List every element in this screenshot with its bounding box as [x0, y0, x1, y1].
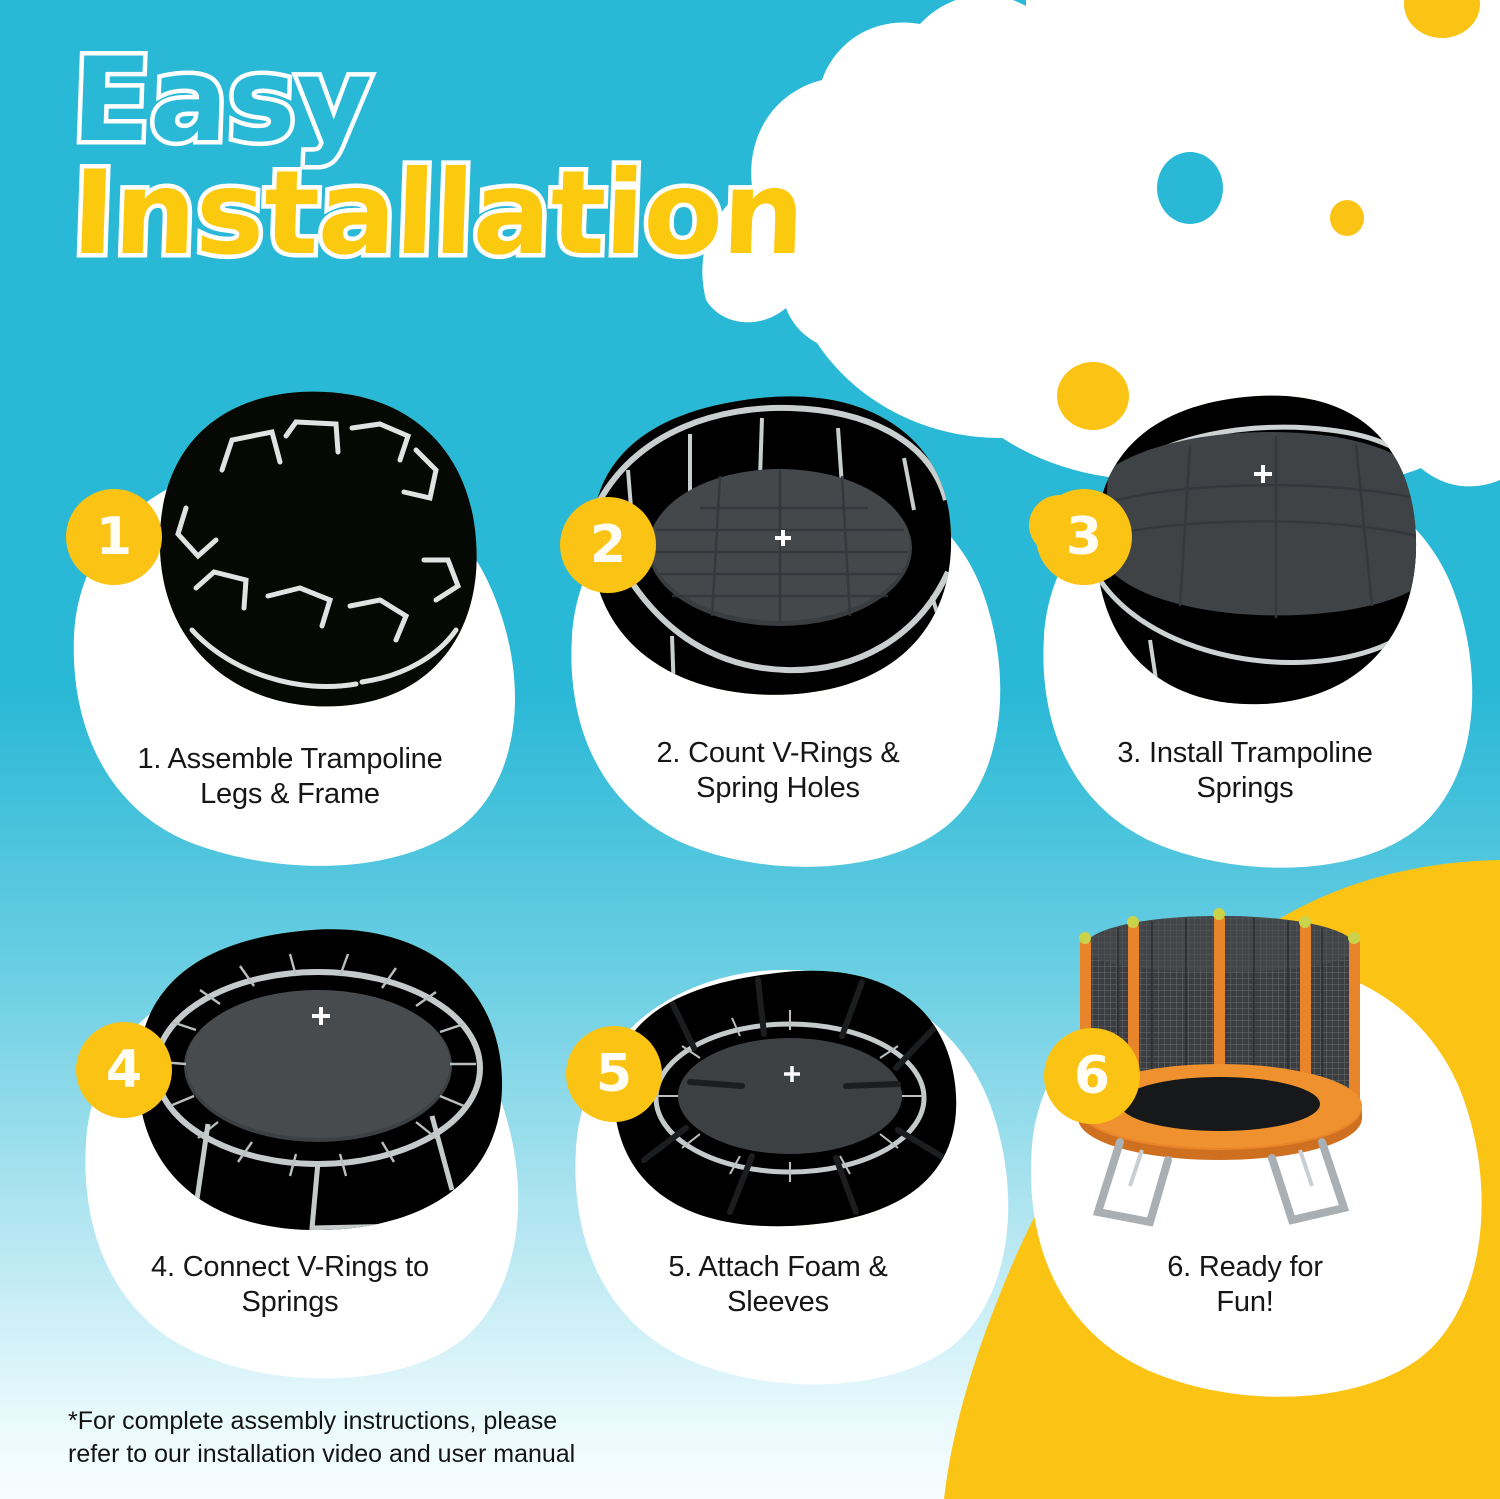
step-6-caption-line1: 6. Ready for — [1030, 1250, 1460, 1285]
footnote-line1: *For complete assembly instructions, ple… — [68, 1405, 708, 1438]
step-2-badge: 2 — [560, 497, 656, 593]
step-4-caption: 4. Connect V-Rings to Springs — [60, 1250, 520, 1321]
step-3-caption-line1: 3. Install Trampoline — [1030, 736, 1460, 771]
step-6-number: 6 — [1074, 1046, 1110, 1106]
step-1-caption: 1. Assemble Trampoline Legs & Frame — [60, 742, 520, 813]
step-1-caption-line1: 1. Assemble Trampoline — [60, 742, 520, 777]
title-line-easy: Easy — [70, 48, 806, 155]
step-3-caption-line2: Springs — [1030, 771, 1460, 806]
step-3-caption: 3. Install Trampoline Springs — [1030, 736, 1460, 807]
step-2-caption: 2. Count V-Rings & Spring Holes — [556, 736, 1000, 807]
step-5-badge: 5 — [566, 1026, 662, 1122]
step-1-caption-line2: Legs & Frame — [60, 777, 520, 812]
footnote: *For complete assembly instructions, ple… — [68, 1405, 708, 1471]
step-1-number: 1 — [96, 507, 132, 567]
step-3-badge: 3 — [1036, 489, 1132, 585]
step-5-caption: 5. Attach Foam & Sleeves — [556, 1250, 1000, 1321]
title-line-installation: Installation — [70, 161, 806, 268]
step-1-badge: 1 — [66, 489, 162, 585]
page-title: Easy Installation — [72, 48, 804, 267]
step-3-number: 3 — [1066, 507, 1102, 567]
step-4-number: 4 — [106, 1040, 142, 1100]
step-2-caption-line2: Spring Holes — [556, 771, 1000, 806]
step-5-number: 5 — [596, 1044, 632, 1104]
step-2-caption-line1: 2. Count V-Rings & — [556, 736, 1000, 771]
step-2-number: 2 — [590, 515, 626, 575]
step-5-caption-line1: 5. Attach Foam & — [556, 1250, 1000, 1285]
step-4-caption-line1: 4. Connect V-Rings to — [60, 1250, 520, 1285]
step-4-badge: 4 — [76, 1022, 172, 1118]
step-6-caption: 6. Ready for Fun! — [1030, 1250, 1460, 1321]
step-5-caption-line2: Sleeves — [556, 1285, 1000, 1320]
step-6-caption-line2: Fun! — [1030, 1285, 1460, 1320]
step-4-caption-line2: Springs — [60, 1285, 520, 1320]
step-6-badge: 6 — [1044, 1028, 1140, 1124]
footnote-line2: refer to our installation video and user… — [68, 1438, 708, 1471]
